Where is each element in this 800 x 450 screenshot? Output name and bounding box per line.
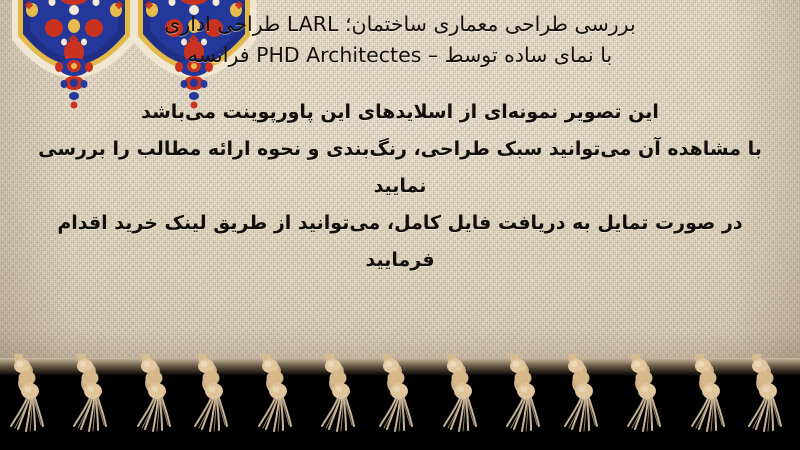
carpet-tassel-icon	[0, 354, 63, 440]
slide-title-line-2: با نمای ساده توسط – PHD Architectes فران…	[26, 40, 774, 71]
carpet-tassel-icon	[430, 354, 494, 440]
carpet-tassel-icon	[553, 354, 617, 440]
carpet-tassel-icon	[676, 354, 740, 440]
slide-title-line-1: بررسی طراحی معماری ساختمان؛ LARL طراحی ا…	[26, 9, 774, 40]
slide-title: بررسی طراحی معماری ساختمان؛ LARL طراحی ا…	[26, 9, 774, 71]
slide-body: این تصویر نمونه‌ای از اسلایدهای این پاور…	[26, 94, 774, 279]
slide-text-layer: بررسی طراحی معماری ساختمان؛ LARL طراحی ا…	[0, 0, 800, 372]
carpet-tassel-icon	[614, 354, 678, 440]
carpet-fringe	[0, 358, 800, 450]
carpet-tassel-icon	[60, 354, 124, 440]
carpet-tassel-icon	[306, 354, 370, 440]
carpet-tassel-icon	[183, 354, 247, 440]
carpet-tassel-icon	[368, 354, 432, 440]
slide-canvas: بررسی طراحی معماری ساختمان؛ LARL طراحی ا…	[0, 0, 800, 450]
slide-body-line-3: در صورت تمایل به دریافت فایل کامل، می‌تو…	[26, 205, 774, 279]
carpet-tassel-icon	[245, 354, 309, 440]
slide-body-line-1: این تصویر نمونه‌ای از اسلایدهای این پاور…	[26, 94, 774, 131]
carpet-tassel-icon	[491, 354, 555, 440]
slide-body-line-2: با مشاهده آن می‌توانید سبک طراحی، رنگ‌بن…	[26, 131, 774, 205]
carpet-tassel-icon	[122, 354, 186, 440]
carpet-tassel-icon	[737, 354, 800, 440]
